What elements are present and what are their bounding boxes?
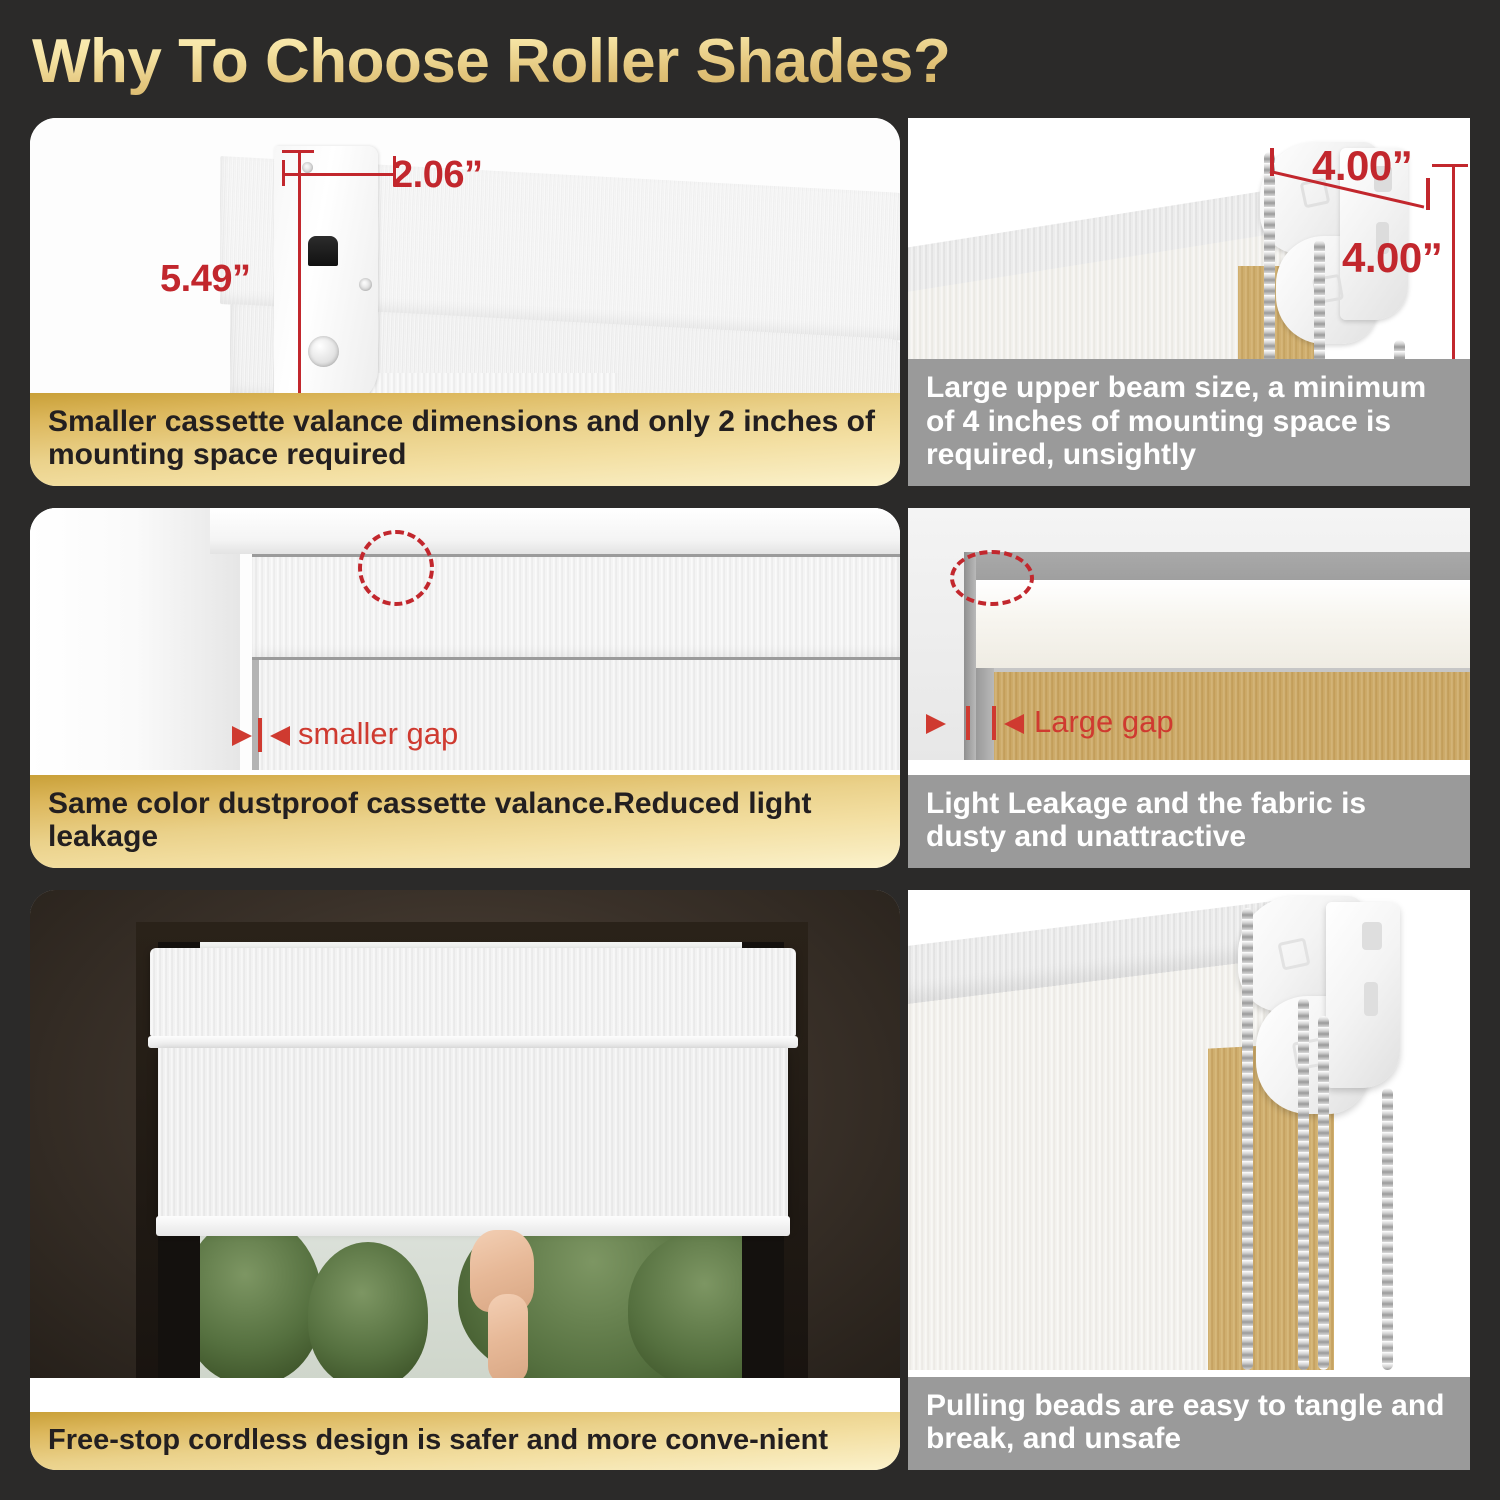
large-gap-marker-bar-2 bbox=[992, 706, 996, 740]
shade-bottom-rail bbox=[156, 1216, 790, 1236]
cassette-valance bbox=[252, 557, 900, 657]
tree-left-icon bbox=[182, 1216, 322, 1378]
width-dimension-label: 2.06” bbox=[392, 154, 482, 197]
roller-shade-panel bbox=[158, 1048, 788, 1226]
gap-highlight-circle bbox=[358, 530, 434, 606]
height-dimension-label: 5.49” bbox=[160, 258, 250, 301]
bracket-up-arrow-icon bbox=[1277, 937, 1310, 970]
leak-highlight-circle bbox=[950, 550, 1034, 606]
white-valance bbox=[970, 580, 1470, 668]
panel-light-leakage: Large gap Light Leakage and the fabric i… bbox=[908, 508, 1470, 868]
beam-width-tick-left bbox=[1270, 148, 1274, 176]
panel-smaller-cassette: 2.06” 5.49” Smaller cassette valance dim… bbox=[30, 118, 900, 486]
infographic-page: Why To Choose Roller Shades? 2.06” bbox=[0, 0, 1500, 1500]
panel-1-caption: Smaller cassette valance dimensions and … bbox=[30, 393, 900, 486]
width-dim-tick-left bbox=[282, 160, 285, 186]
roller-fabric bbox=[258, 660, 900, 770]
tree-mid-icon bbox=[308, 1242, 428, 1378]
hanging-bead-chain-1 bbox=[1242, 908, 1253, 1370]
cap-screw-mid-icon bbox=[359, 278, 372, 291]
panel-6-photo bbox=[908, 890, 1470, 1370]
fabric-edge-left bbox=[252, 660, 259, 770]
panel-dustproof-valance: smaller gap Same color dustproof cassett… bbox=[30, 508, 900, 868]
beam-height-tick-top bbox=[1432, 164, 1468, 167]
large-gap-arrow-left-icon bbox=[926, 714, 946, 734]
beam-width-label: 4.00” bbox=[1312, 142, 1412, 190]
window-frame-left bbox=[30, 508, 240, 770]
panel-2-photo: 4.00” 4.00” bbox=[908, 118, 1470, 390]
page-title: Why To Choose Roller Shades? bbox=[32, 26, 1132, 98]
window-frame-top bbox=[210, 508, 900, 554]
panel-4-caption: Light Leakage and the fabric is dusty an… bbox=[908, 775, 1470, 868]
cap-slot-icon bbox=[308, 236, 338, 266]
hanging-bead-chain-4 bbox=[1382, 1088, 1393, 1370]
beam-height-dim-line bbox=[1452, 164, 1455, 362]
panel-3-photo: smaller gap bbox=[30, 508, 900, 770]
large-gap-marker-bar-1 bbox=[966, 706, 970, 740]
panel-pulling-beads: Pulling beads are easy to tangle and bre… bbox=[908, 890, 1470, 1470]
gap-arrow-right-icon bbox=[270, 726, 290, 746]
panel-4-photo: Large gap bbox=[908, 508, 1470, 760]
gap-arrow-left-icon bbox=[232, 726, 252, 746]
panel-1-photo: 2.06” 5.49” bbox=[30, 118, 900, 403]
panel-cordless-design: Free-stop cordless design is safer and m… bbox=[30, 890, 900, 1470]
cap-screw-upper-icon bbox=[302, 162, 313, 173]
panel-2-caption: Large upper beam size, a minimum of 4 in… bbox=[908, 359, 1470, 486]
large-gap-label: Large gap bbox=[1034, 704, 1174, 740]
smaller-gap-label: smaller gap bbox=[298, 716, 458, 752]
gap-marker-bar bbox=[258, 718, 262, 752]
panel-5-caption: Free-stop cordless design is safer and m… bbox=[30, 1412, 900, 1470]
height-dim-tick-top bbox=[282, 150, 314, 153]
hanging-bead-chain-2 bbox=[1298, 998, 1309, 1370]
cap-bottom-roller-icon bbox=[308, 336, 339, 367]
valance-bottom-rail bbox=[148, 1036, 798, 1048]
hanging-bead-chain-3 bbox=[1318, 1016, 1329, 1370]
bracket-slot-top-icon bbox=[1362, 922, 1382, 950]
shade-valance bbox=[150, 948, 796, 1036]
bead-chain-1 bbox=[1264, 152, 1275, 390]
panel-5-photo bbox=[30, 890, 900, 1378]
beam-width-tick-right bbox=[1426, 178, 1430, 210]
panel-large-upper-beam: 4.00” 4.00” Large upper beam size, a min… bbox=[908, 118, 1470, 486]
beam-height-label: 4.00” bbox=[1342, 234, 1442, 282]
panel-6-caption: Pulling beads are easy to tangle and bre… bbox=[908, 1377, 1470, 1470]
height-dim-line bbox=[298, 150, 301, 403]
forearm-graphic bbox=[488, 1294, 528, 1378]
bracket-slot-mid-icon bbox=[1364, 982, 1378, 1016]
large-gap-arrow-right-icon bbox=[1004, 714, 1024, 734]
panel-3-caption: Same color dustproof cassette valance.Re… bbox=[30, 775, 900, 868]
